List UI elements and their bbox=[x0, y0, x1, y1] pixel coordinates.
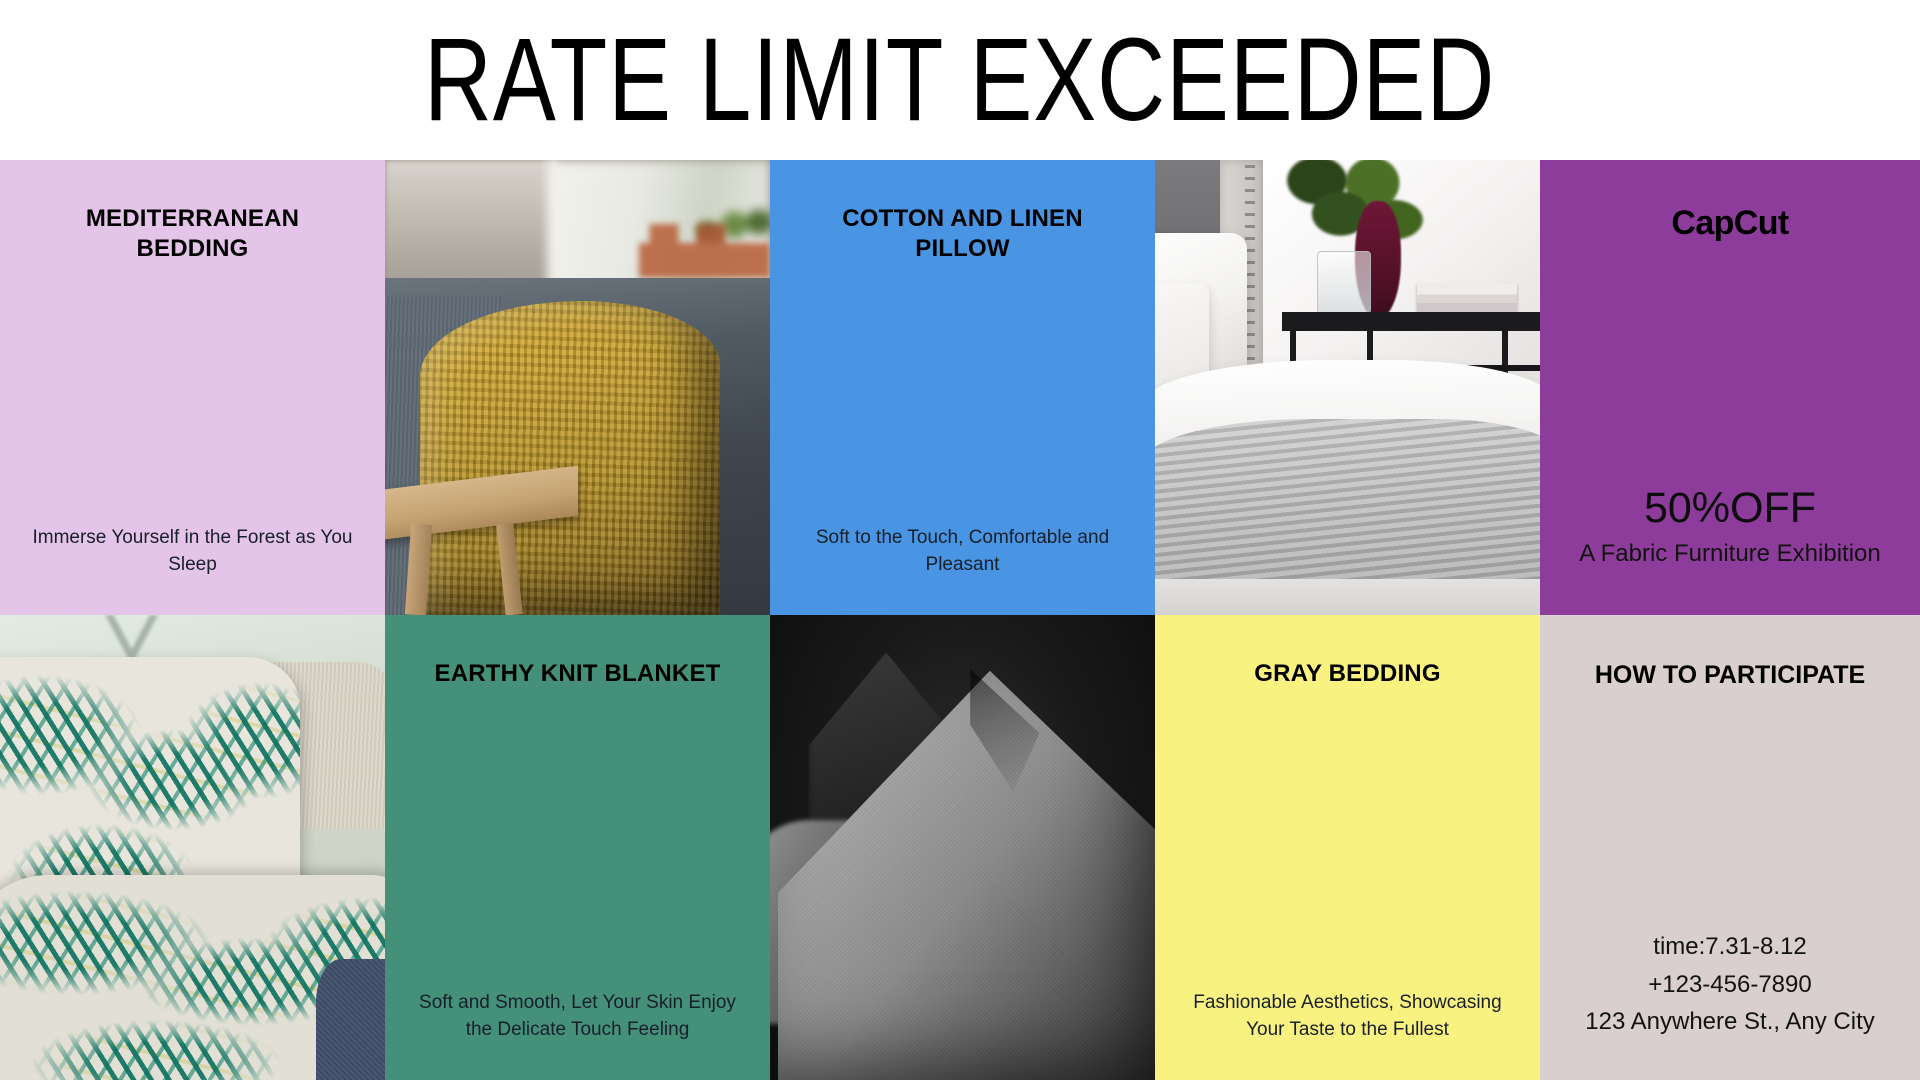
photo-floor bbox=[1155, 579, 1540, 615]
card-subtitle: Fashionable Aesthetics, Showcasing Your … bbox=[1185, 989, 1510, 1044]
card-subtitle: Immerse Yourself in the Forest as You Sl… bbox=[30, 524, 355, 579]
card-title: EARTHY KNIT BLANKET bbox=[434, 659, 720, 689]
banner-title: RATE LIMIT EXCEEDED bbox=[424, 21, 1495, 139]
photo-gray-linen-pillow-image bbox=[770, 615, 1155, 1080]
photo-yellow-blanket bbox=[420, 301, 720, 615]
photo-knit-blanket bbox=[385, 160, 770, 615]
banner: RATE LIMIT EXCEEDED bbox=[0, 0, 1920, 160]
card-title: HOW TO PARTICIPATE bbox=[1595, 659, 1865, 692]
card-earthy-knit-blanket[interactable]: EARTHY KNIT BLANKET Soft and Smooth, Let… bbox=[385, 615, 770, 1080]
product-grid: MEDITERRANEAN BEDDING Immerse Yourself i… bbox=[0, 160, 1920, 1080]
promo-discount: 50%OFF bbox=[1579, 485, 1880, 532]
capcut-logo: CapCut bbox=[1671, 204, 1788, 243]
photo-white-bed-image bbox=[1155, 160, 1540, 615]
card-gray-bedding[interactable]: GRAY BEDDING Fashionable Aesthetics, Sho… bbox=[1155, 615, 1540, 1080]
card-promo[interactable]: CapCut 50%OFF A Fabric Furniture Exhibit… bbox=[1540, 160, 1920, 615]
card-subtitle: Soft and Smooth, Let Your Skin Enjoy the… bbox=[415, 989, 740, 1044]
card-mediterranean-bedding[interactable]: MEDITERRANEAN BEDDING Immerse Yourself i… bbox=[0, 160, 385, 615]
promo-description: A Fabric Furniture Exhibition bbox=[1579, 538, 1880, 569]
photo-white-bed bbox=[1155, 160, 1540, 615]
card-title: COTTON AND LINEN PILLOW bbox=[800, 204, 1125, 264]
card-cotton-linen-pillow[interactable]: COTTON AND LINEN PILLOW Soft to the Touc… bbox=[770, 160, 1155, 615]
poster-page: RATE LIMIT EXCEEDED MEDITERRANEAN BEDDIN… bbox=[0, 0, 1920, 1080]
photo-wall bbox=[385, 160, 558, 297]
photo-tropical-pillows-image bbox=[0, 615, 385, 1080]
card-how-to-participate[interactable]: HOW TO PARTICIPATE time:7.31-8.12 +123-4… bbox=[1540, 615, 1920, 1080]
participate-phone[interactable]: +123-456-7890 bbox=[1585, 966, 1875, 1003]
card-title: MEDITERRANEAN BEDDING bbox=[30, 204, 355, 264]
photo-denim-corner bbox=[316, 959, 385, 1080]
card-subtitle: Soft to the Touch, Comfortable and Pleas… bbox=[800, 524, 1125, 579]
photo-glass-vase bbox=[1317, 251, 1371, 319]
photo-book-stack bbox=[1417, 283, 1517, 315]
participate-time: time:7.31-8.12 bbox=[1585, 928, 1875, 965]
participate-address: 123 Anywhere St., Any City bbox=[1585, 1003, 1875, 1040]
card-title: GRAY BEDDING bbox=[1254, 659, 1440, 689]
photo-knit-blanket-image bbox=[385, 160, 770, 615]
photo-plant-pots bbox=[639, 224, 770, 279]
photo-gray-linen-pillow bbox=[770, 615, 1155, 1080]
photo-tropical-pillows bbox=[0, 615, 385, 1080]
participate-details: time:7.31-8.12 +123-456-7890 123 Anywher… bbox=[1585, 928, 1875, 1040]
promo-details: 50%OFF A Fabric Furniture Exhibition bbox=[1579, 485, 1880, 569]
